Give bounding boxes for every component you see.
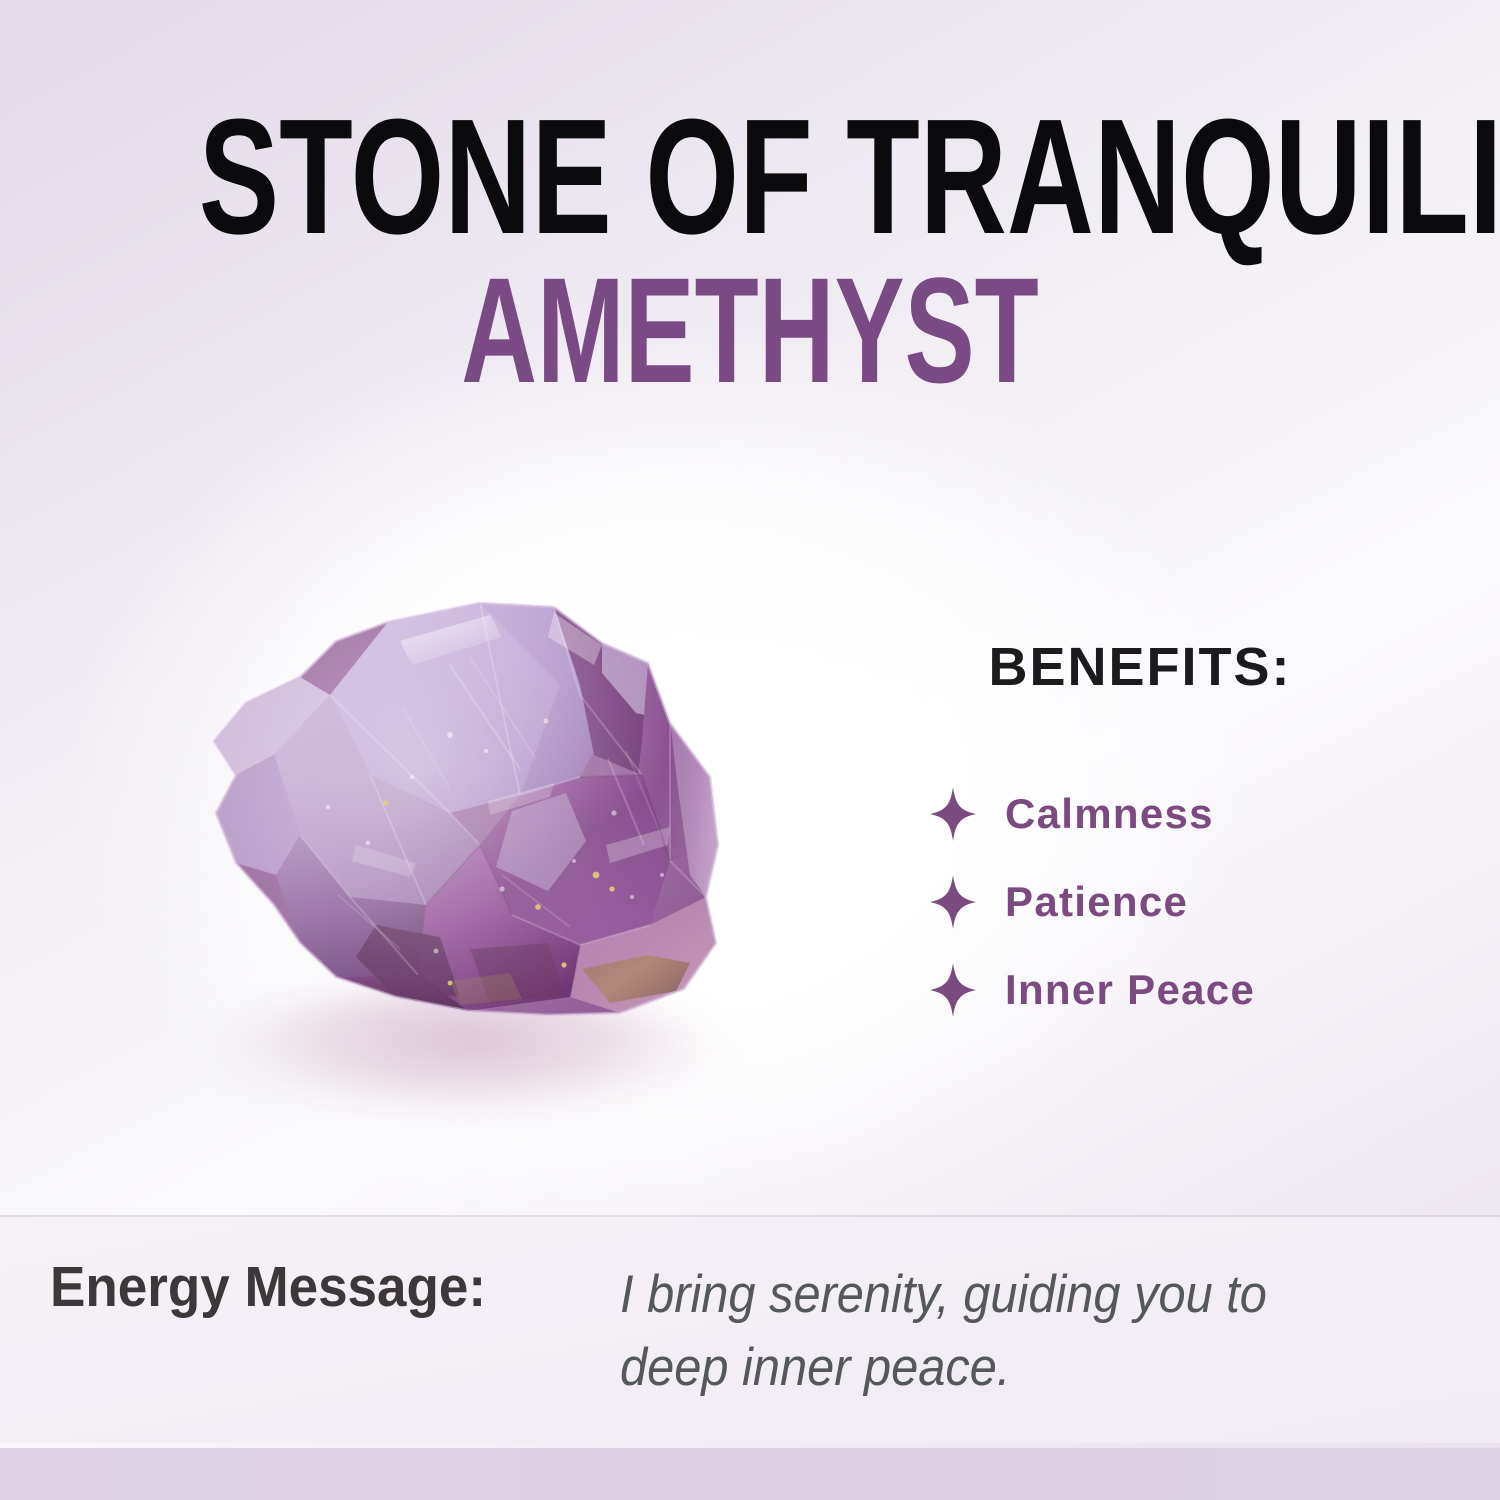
energy-message-text: I bring serenity, guiding you to deep in…: [620, 1258, 1356, 1404]
page-subtitle: AMETHYST: [225, 263, 1275, 398]
benefit-label: Patience: [1005, 878, 1188, 926]
energy-message-row: Energy Message: I bring serenity, guidin…: [50, 1258, 1450, 1404]
benefits-heading: BENEFITS:: [905, 636, 1375, 698]
section-divider: [0, 1215, 1500, 1217]
amethyst-crystal-image: [150, 545, 790, 1165]
header: STONE OF TRANQUILITY AMETHYST: [0, 0, 1500, 398]
page-title: STONE OF TRANQUILITY: [199, 106, 1302, 247]
benefit-item-calmness: Calmness: [905, 770, 1375, 858]
sparkle-icon: [929, 962, 977, 1018]
energy-message-label: Energy Message:: [50, 1258, 486, 1316]
benefit-item-inner-peace: Inner Peace: [905, 946, 1375, 1034]
benefits-section: BENEFITS: Calmness Patience: [905, 636, 1375, 1034]
benefits-list: Calmness Patience Inner Peace: [905, 770, 1375, 1034]
sparkle-icon: [929, 874, 977, 930]
benefit-label: Calmness: [1005, 790, 1214, 838]
footer-bar: [0, 1448, 1500, 1500]
sparkle-icon: [929, 786, 977, 842]
benefit-item-patience: Patience: [905, 858, 1375, 946]
poster-canvas: STONE OF TRANQUILITY AMETHYST: [0, 0, 1500, 1500]
benefit-label: Inner Peace: [1005, 966, 1255, 1014]
amethyst-crystal-illustration: [150, 545, 790, 1165]
